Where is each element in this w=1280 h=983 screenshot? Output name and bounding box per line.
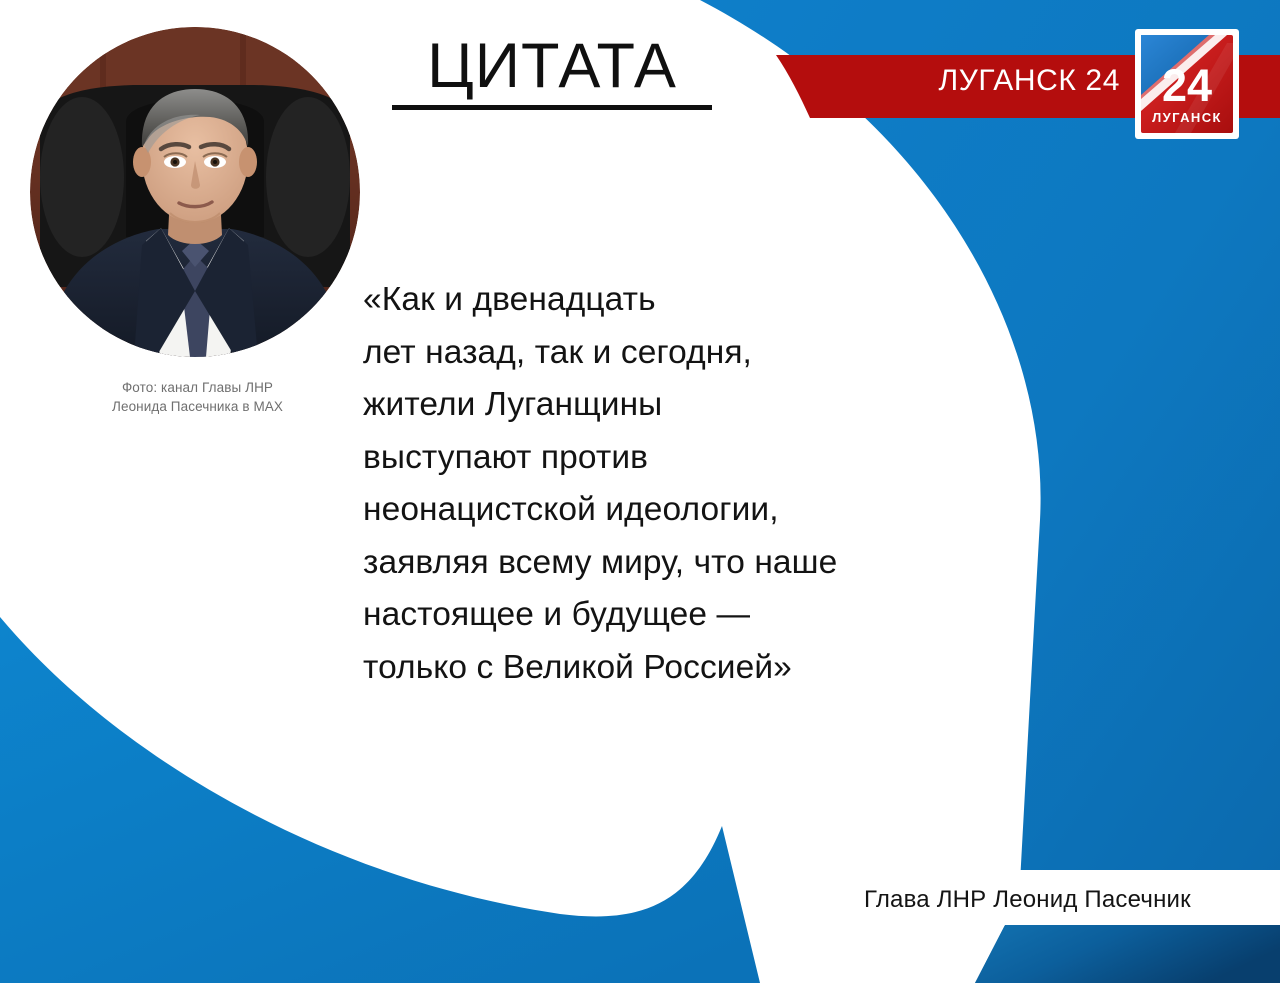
page-title-text: ЦИТАТА [392,36,712,98]
title-underline [392,105,712,110]
logo-number: 24 [1162,60,1212,111]
blue-bottom-right-shape-top [975,925,1280,983]
quote-text: «Как и двенадцать лет назад, так и сегод… [363,274,963,694]
logo-icon: 24 ЛУГАНСК [1135,29,1239,139]
page-title: ЦИТАТА [392,36,712,110]
logo-city: ЛУГАНСК [1152,110,1222,125]
portrait-illustration [30,27,360,357]
photo-credit: Фото: канал Главы ЛНР Леонида Пасечника … [60,378,335,416]
attribution-name: Глава ЛНР Леонид Пасечник [864,888,1191,912]
channel-name: ЛУГАНСК 24 [880,66,1120,96]
quote-card: Фото: канал Главы ЛНР Леонида Пасечника … [0,0,1280,983]
luhansk24-logo[interactable]: 24 ЛУГАНСК [1135,29,1239,139]
portrait-photo [30,27,360,357]
